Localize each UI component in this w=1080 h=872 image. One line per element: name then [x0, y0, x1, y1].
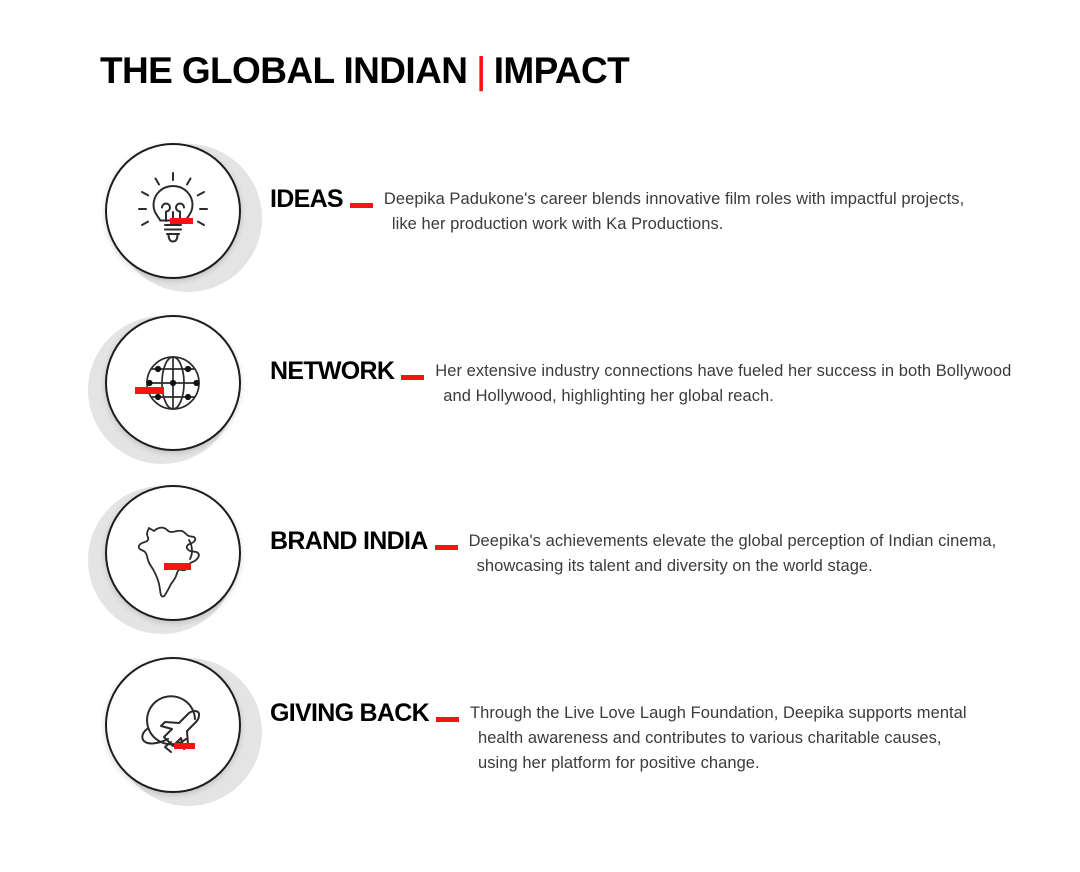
description-line: Deepika's achievements elevate the globa… [469, 529, 997, 554]
accent-dash [164, 563, 191, 570]
description-line: Her extensive industry connections have … [435, 359, 1011, 384]
india-map-icon [127, 507, 219, 599]
label-dash [436, 717, 459, 722]
accent-dash [170, 218, 193, 224]
label-dash [435, 545, 458, 550]
description-line: health awareness and contributes to vari… [470, 726, 967, 751]
accent-dash [174, 743, 195, 749]
row-label: IDEAS [270, 187, 343, 211]
icon-medallion [93, 473, 253, 633]
description-line: using her platform for positive change. [470, 751, 967, 776]
medallion-disc [105, 143, 241, 279]
description-line: showcasing its talent and diversity on t… [469, 554, 997, 579]
description-line: and Hollywood, highlighting her global r… [435, 384, 1011, 409]
list-item: NETWORK Her extensive industry connectio… [0, 303, 1080, 463]
list-item: GIVING BACK Through the Live Love Laugh … [0, 645, 1080, 805]
row-label: GIVING BACK [270, 701, 429, 725]
globe-network-icon [127, 337, 219, 429]
medallion-disc [105, 485, 241, 621]
row-description: Her extensive industry connections have … [435, 359, 1011, 409]
row-text: BRAND INDIA Deepika's achievements eleva… [270, 473, 996, 579]
description-line: like her production work with Ka Product… [384, 212, 964, 237]
list-item: BRAND INDIA Deepika's achievements eleva… [0, 473, 1080, 633]
row-description: Deepika's achievements elevate the globa… [469, 529, 997, 579]
row-label: NETWORK [270, 359, 394, 383]
medallion-disc [105, 657, 241, 793]
page-title-main: THE GLOBAL INDIAN [100, 52, 467, 89]
icon-medallion [93, 131, 253, 291]
icon-medallion [93, 303, 253, 463]
description-line: Deepika Padukone's career blends innovat… [384, 187, 964, 212]
medallion-disc [105, 315, 241, 451]
lightbulb-icon [127, 165, 219, 257]
accent-dash [135, 387, 164, 394]
airplane-globe-icon [127, 679, 219, 771]
label-dash [401, 375, 424, 380]
row-description: Deepika Padukone's career blends innovat… [384, 187, 964, 237]
label-dash [350, 203, 373, 208]
row-text: IDEAS Deepika Padukone's career blends i… [270, 131, 964, 237]
list-item: IDEAS Deepika Padukone's career blends i… [0, 131, 1080, 291]
row-label: BRAND INDIA [270, 529, 428, 553]
row-description: Through the Live Love Laugh Foundation, … [470, 701, 967, 776]
page-title-accent: IMPACT [494, 52, 629, 89]
title-separator: | [478, 52, 486, 89]
icon-medallion [93, 645, 253, 805]
page-title: THE GLOBAL INDIAN | IMPACT [100, 52, 629, 89]
row-text: GIVING BACK Through the Live Love Laugh … [270, 645, 967, 776]
description-line: Through the Live Love Laugh Foundation, … [470, 701, 967, 726]
row-text: NETWORK Her extensive industry connectio… [270, 303, 1011, 409]
